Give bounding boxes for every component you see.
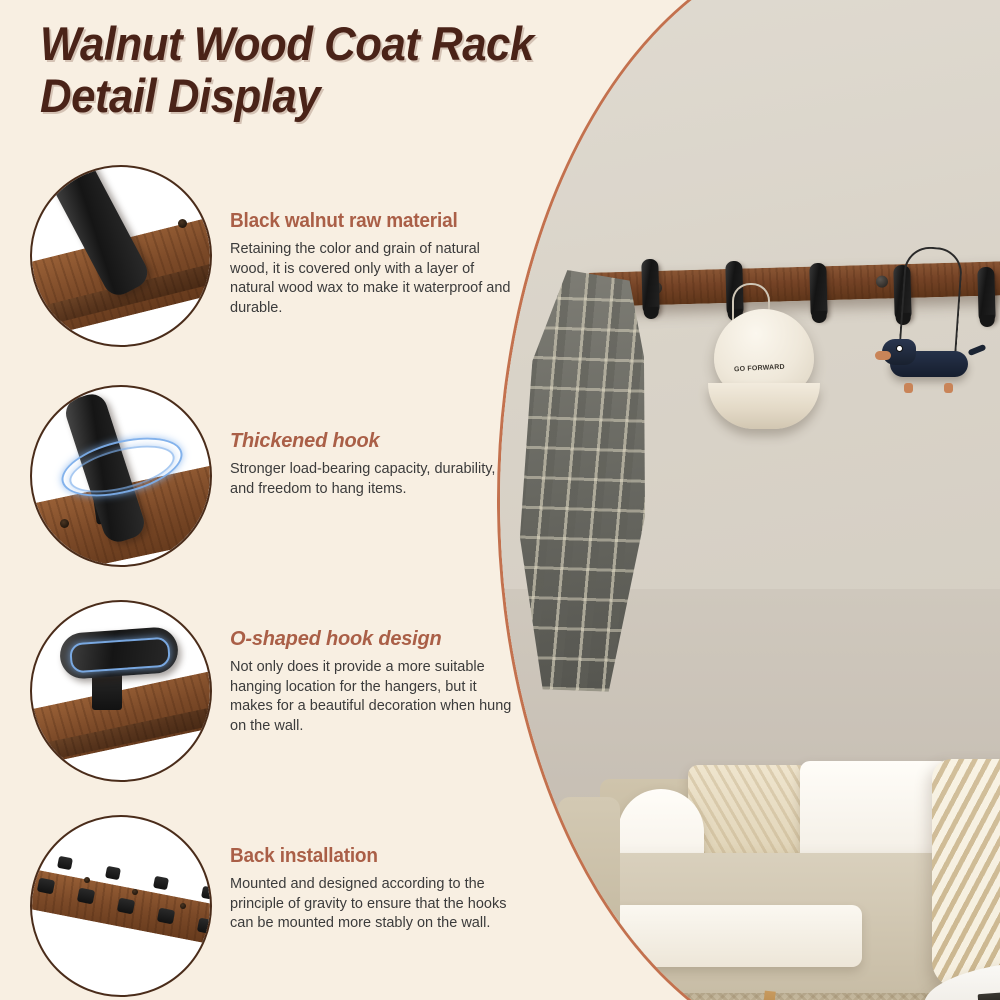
mounting-bracket bbox=[105, 866, 121, 880]
mounting-bracket bbox=[153, 876, 169, 890]
dachshund-toy bbox=[882, 333, 978, 395]
title-line-1: Walnut Wood Coat Rack bbox=[40, 18, 710, 70]
mounting-bracket bbox=[157, 908, 175, 925]
thumbnail-image-2 bbox=[32, 387, 210, 565]
dog-eye bbox=[896, 345, 903, 352]
feature-heading-1: Black walnut raw material bbox=[230, 210, 458, 233]
mounting-bracket bbox=[197, 918, 210, 935]
feature-thumbnail-1 bbox=[30, 165, 212, 347]
thumbnail-image-4 bbox=[32, 817, 210, 995]
dog-leg bbox=[944, 383, 953, 393]
thumbnail-image-1 bbox=[32, 167, 210, 345]
feature-body-4: Mounted and designed according to the pr… bbox=[230, 875, 515, 934]
screw-hole bbox=[180, 903, 186, 909]
knit-throw-blanket bbox=[932, 759, 1000, 989]
dog-snout bbox=[875, 351, 891, 360]
sofa-arm bbox=[558, 797, 620, 993]
thumbnail-image-3 bbox=[32, 602, 210, 780]
feature-body-1: Retaining the color and grain of natural… bbox=[230, 240, 515, 318]
sofa-cushion bbox=[612, 905, 862, 967]
page-title: Walnut Wood Coat Rack Detail Display bbox=[40, 18, 760, 122]
rack-hook bbox=[641, 259, 660, 315]
mounting-bracket bbox=[117, 898, 135, 915]
rack-hook bbox=[977, 267, 996, 323]
mounting-bracket bbox=[57, 856, 73, 870]
mounting-bracket bbox=[201, 886, 210, 900]
mounting-bracket bbox=[37, 878, 55, 895]
dog-leg bbox=[904, 383, 913, 393]
feature-thumbnail-4 bbox=[30, 815, 212, 997]
screw-cap bbox=[876, 275, 888, 287]
cap-brim bbox=[708, 383, 820, 429]
feature-thumbnail-3 bbox=[30, 600, 212, 782]
infographic-canvas: GO FORWARD bbox=[0, 0, 1000, 1000]
screw-hole bbox=[84, 877, 90, 883]
feature-body-3: Not only does it provide a more suitable… bbox=[230, 658, 515, 736]
screw-hole bbox=[178, 219, 187, 228]
mounting-bracket bbox=[77, 888, 95, 905]
screw-hole bbox=[60, 519, 69, 528]
feature-heading-2: Thickened hook bbox=[230, 430, 379, 453]
feature-body-2: Stronger load-bearing capacity, durabili… bbox=[230, 460, 515, 499]
feature-heading-4: Back installation bbox=[230, 845, 378, 868]
baseball-cap: GO FORWARD bbox=[708, 309, 820, 437]
title-line-2: Detail Display bbox=[40, 70, 710, 122]
screw-hole bbox=[132, 889, 138, 895]
feature-heading-3: O-shaped hook design bbox=[230, 628, 442, 651]
hero-photo-ellipse: GO FORWARD bbox=[497, 0, 1000, 1000]
hero-scene: GO FORWARD bbox=[500, 0, 1000, 1000]
feature-thumbnail-2 bbox=[30, 385, 212, 567]
